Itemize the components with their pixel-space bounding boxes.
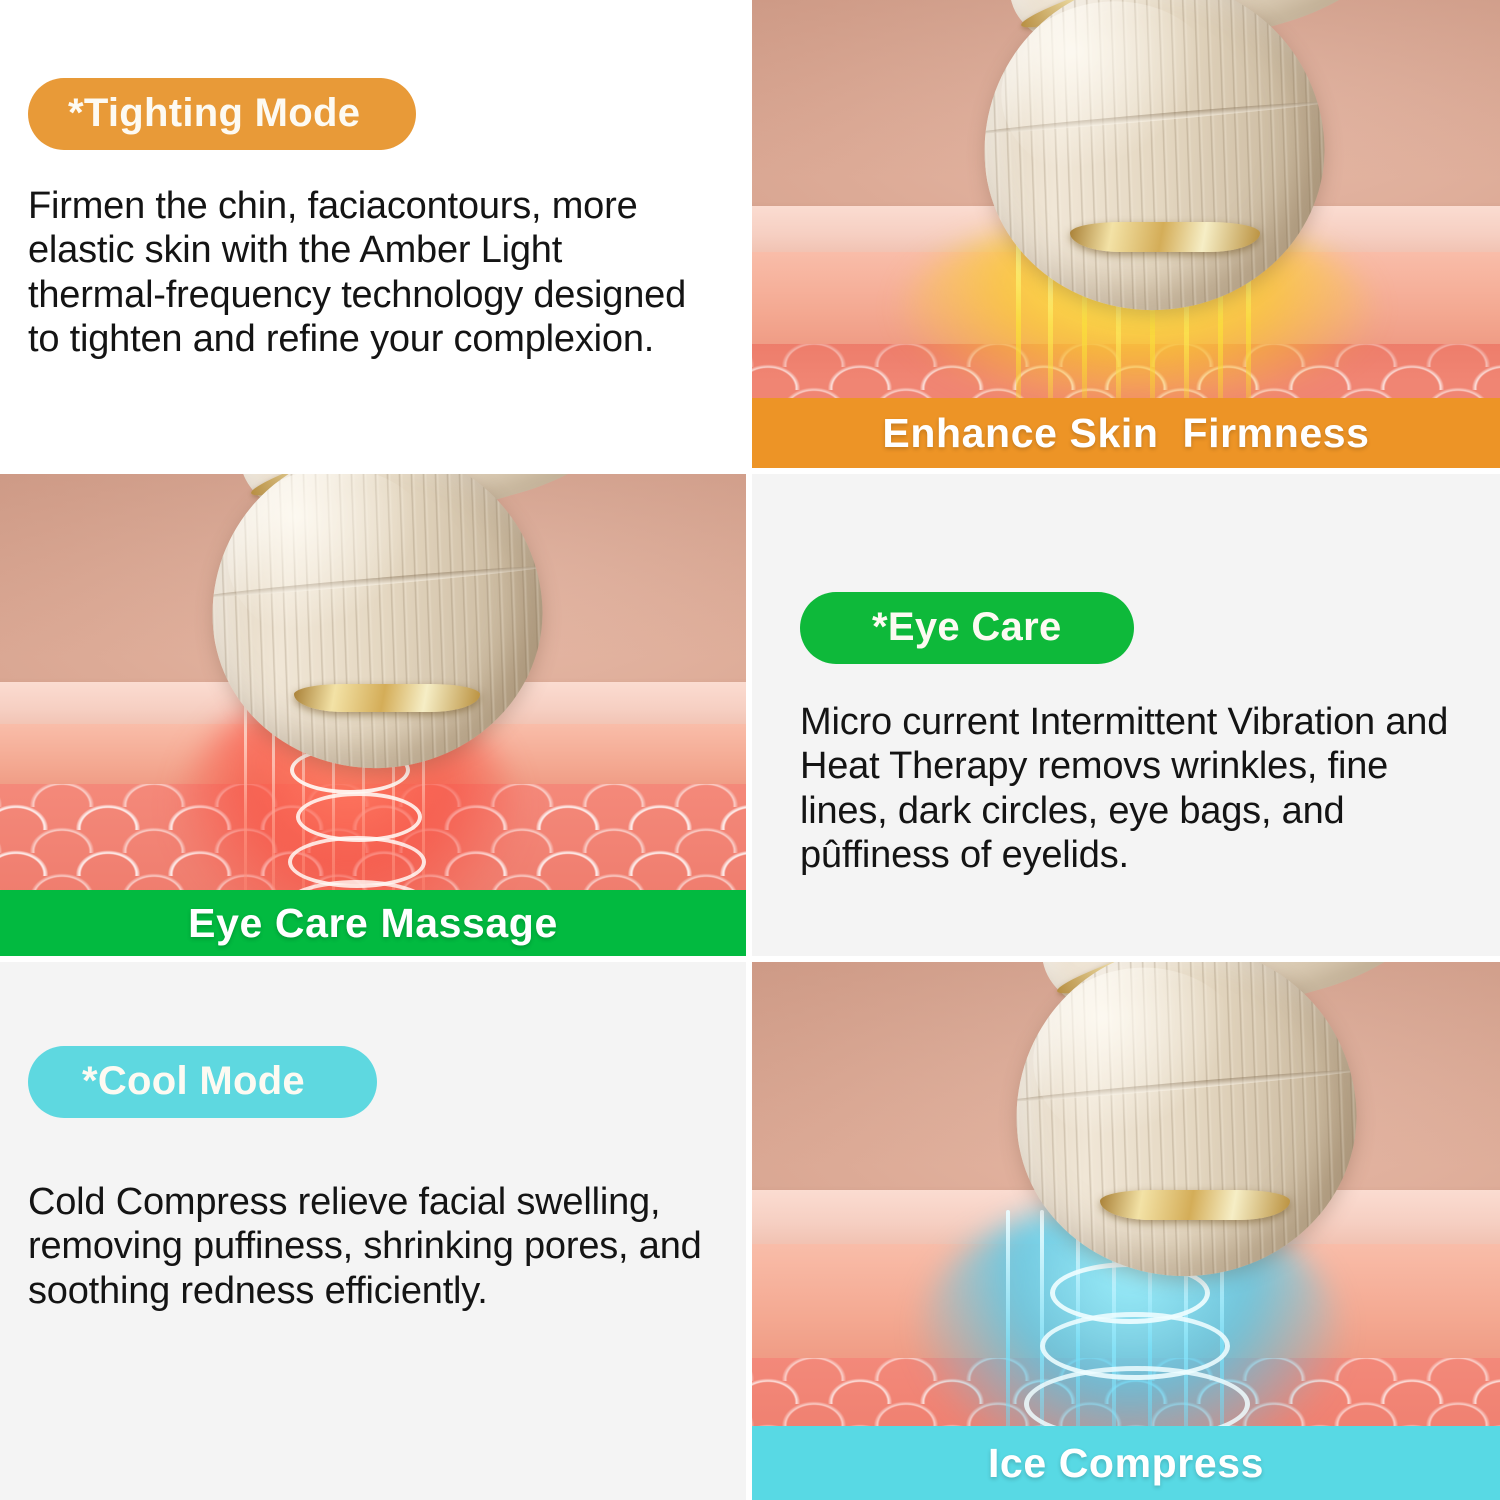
ice-caption-text: Ice Compress bbox=[988, 1440, 1264, 1487]
device-massage-head bbox=[970, 0, 1337, 324]
tightening-mode-badge: *Tighting Mode bbox=[28, 78, 416, 150]
ice-caption-bar: Ice Compress bbox=[752, 1426, 1500, 1500]
tightening-mode-description: Firmen the chin, faciacontours, more ela… bbox=[28, 184, 706, 362]
cool-mode-text-panel: *Cool Mode Cold Compress relieve facial … bbox=[0, 962, 746, 1500]
facial-device bbox=[902, 0, 1422, 250]
firmness-caption-text: Enhance Skin Firmness bbox=[882, 410, 1369, 457]
device-tip-ring bbox=[1070, 222, 1260, 252]
eye-care-text-panel: *Eye Care Micro current Intermittent Vib… bbox=[752, 474, 1500, 956]
device-tip-ring bbox=[294, 684, 480, 712]
ice-compress-image: Ice Compress bbox=[752, 962, 1500, 1500]
cool-mode-badge: *Cool Mode bbox=[28, 1046, 377, 1118]
eye-massage-caption-bar: Eye Care Massage bbox=[0, 890, 746, 956]
eye-care-massage-image: Eye Care Massage bbox=[0, 474, 746, 956]
eye-care-description: Micro current Intermittent Vibration and… bbox=[800, 700, 1460, 878]
facial-device bbox=[132, 474, 652, 722]
device-massage-head bbox=[199, 474, 556, 782]
eye-massage-scene bbox=[0, 474, 746, 956]
eye-care-badge: *Eye Care bbox=[800, 592, 1134, 664]
tightening-mode-text-panel: *Tighting Mode Firmen the chin, faciacon… bbox=[0, 0, 746, 468]
eye-massage-caption-text: Eye Care Massage bbox=[188, 900, 558, 947]
cool-mode-description: Cold Compress relieve facial swelling, r… bbox=[28, 1180, 706, 1313]
device-massage-head bbox=[1002, 962, 1369, 1290]
device-tip-ring bbox=[1100, 1190, 1290, 1220]
enhance-skin-firmness-image: Enhance Skin Firmness bbox=[752, 0, 1500, 468]
ice-scene bbox=[752, 962, 1500, 1500]
facial-device bbox=[934, 962, 1454, 1238]
wave-ring-2 bbox=[296, 792, 422, 842]
product-feature-infographic: *Tighting Mode Firmen the chin, faciacon… bbox=[0, 0, 1500, 1500]
firmness-caption-bar: Enhance Skin Firmness bbox=[752, 398, 1500, 468]
